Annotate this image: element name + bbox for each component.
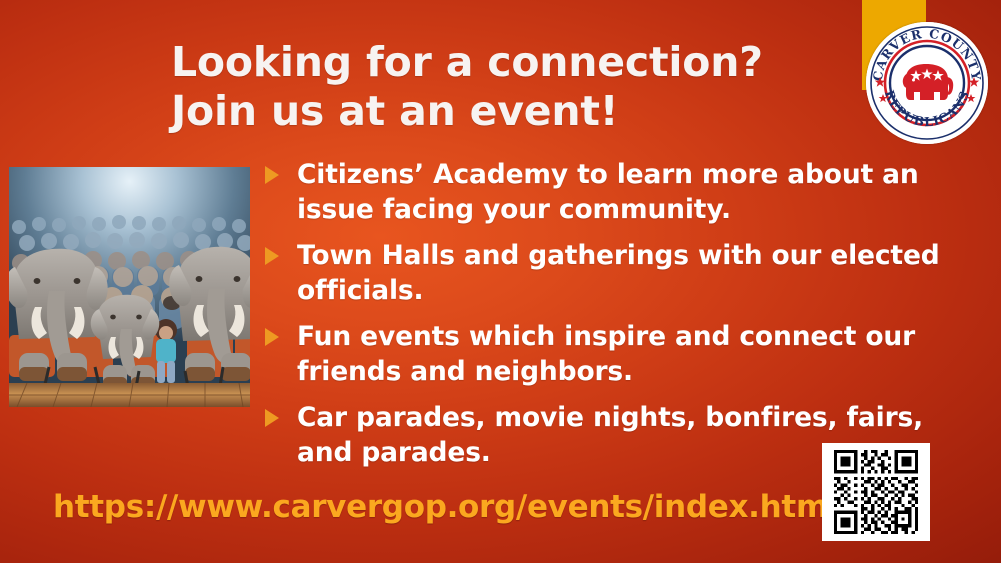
list-item-label: Fun events which inspire and connect our… xyxy=(297,321,915,387)
slide-title: Looking for a connection? Join us at an … xyxy=(171,38,871,136)
triangle-bullet-icon xyxy=(265,247,279,265)
triangle-bullet-icon xyxy=(265,166,279,184)
title-line-2: Join us at an event! xyxy=(171,87,871,136)
list-item: Fun events which inspire and connect our… xyxy=(265,319,965,389)
bullet-list: Citizens’ Academy to learn more about an… xyxy=(265,157,965,481)
presentation-slide: CARVER COUNTY REPUBLICANS xyxy=(0,0,1001,563)
triangle-bullet-icon xyxy=(265,328,279,346)
carver-county-republicans-logo: CARVER COUNTY REPUBLICANS xyxy=(866,22,988,144)
list-item-label: Citizens’ Academy to learn more about an… xyxy=(297,159,919,225)
events-page-qr-code[interactable] xyxy=(822,443,930,541)
elephants-in-auditorium-photo xyxy=(9,167,250,407)
events-page-url[interactable]: https://www.carvergop.org/events/index.h… xyxy=(53,487,838,527)
list-item-label: Town Halls and gatherings with our elect… xyxy=(297,240,940,306)
triangle-bullet-icon xyxy=(265,409,279,427)
title-line-1: Looking for a connection? xyxy=(171,38,871,87)
list-item: Citizens’ Academy to learn more about an… xyxy=(265,157,965,227)
list-item: Town Halls and gatherings with our elect… xyxy=(265,238,965,308)
